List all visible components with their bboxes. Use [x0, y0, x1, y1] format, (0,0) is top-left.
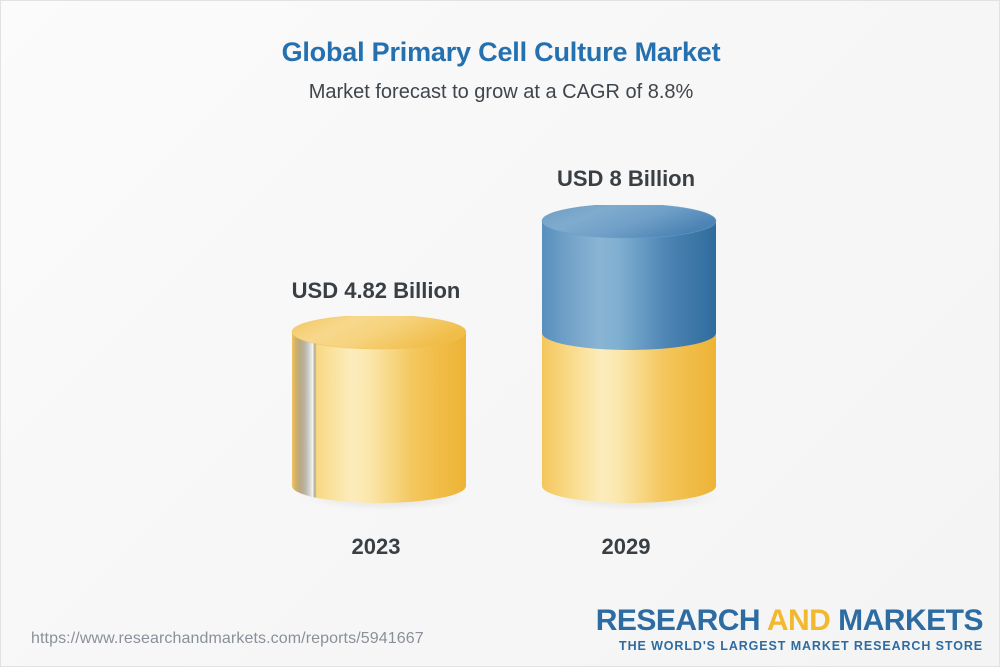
- source-url-link[interactable]: https://www.researchandmarkets.com/repor…: [31, 630, 424, 648]
- research-and-markets-logo[interactable]: RESEARCH AND MARKETS THE WORLD'S LARGEST…: [596, 605, 983, 654]
- logo-word-markets: MARKETS: [838, 604, 983, 637]
- bar-group-2029: USD 8 Billion: [476, 1, 776, 601]
- cylinder-2023[interactable]: [289, 316, 473, 516]
- chart-plot-area: USD 4.82 Billion: [1, 1, 1000, 601]
- infographic-canvas: Global Primary Cell Culture Market Marke…: [0, 0, 1000, 667]
- logo-wordmark: RESEARCH AND MARKETS: [596, 605, 983, 637]
- logo-word-research: RESEARCH: [596, 604, 760, 637]
- cylinder-2029[interactable]: [539, 205, 723, 517]
- cylinder-2023-svg: [289, 316, 473, 516]
- category-label-2029: 2029: [476, 534, 776, 560]
- footer: https://www.researchandmarkets.com/repor…: [1, 598, 1000, 666]
- value-label-2029: USD 8 Billion: [476, 166, 776, 192]
- cylinder-2029-svg: [539, 205, 723, 517]
- logo-word-and: AND: [767, 604, 831, 637]
- logo-tagline: THE WORLD'S LARGEST MARKET RESEARCH STOR…: [596, 638, 983, 654]
